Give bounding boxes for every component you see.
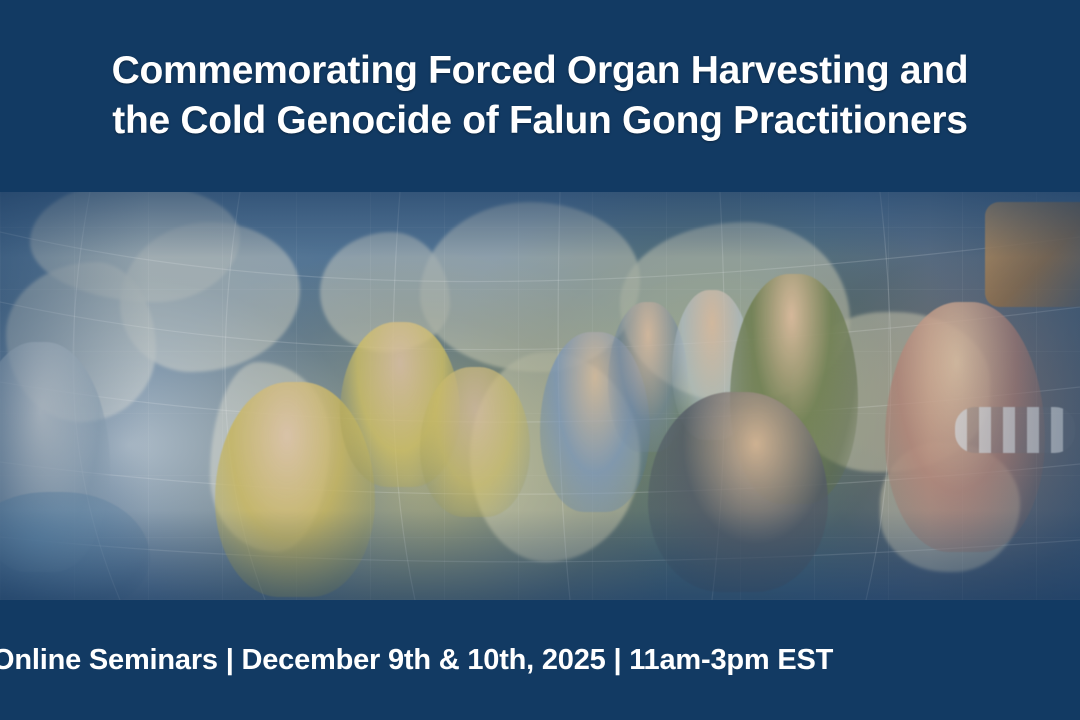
collage-vignette bbox=[0, 192, 1080, 600]
footer-band: Online Seminars | December 9th & 10th, 2… bbox=[0, 600, 1080, 720]
photo-collage bbox=[0, 192, 1080, 600]
page-title-line-2: the Cold Genocide of Falun Gong Practiti… bbox=[112, 96, 967, 146]
event-poster: Commemorating Forced Organ Harvesting an… bbox=[0, 0, 1080, 720]
title-band: Commemorating Forced Organ Harvesting an… bbox=[0, 0, 1080, 192]
event-details-text: Online Seminars | December 9th & 10th, 2… bbox=[0, 600, 833, 720]
page-title-line-1: Commemorating Forced Organ Harvesting an… bbox=[112, 46, 969, 96]
